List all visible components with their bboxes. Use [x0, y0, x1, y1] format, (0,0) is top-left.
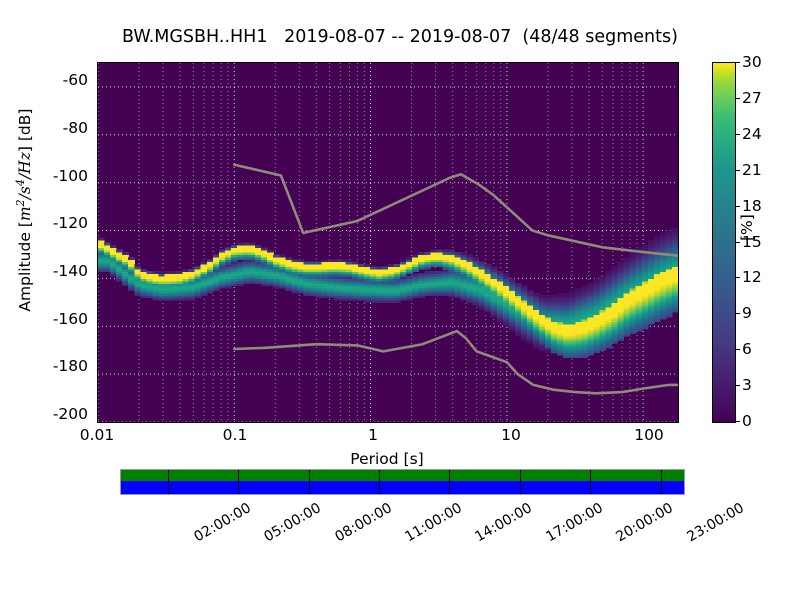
- colorbar-tick-label: 30: [742, 53, 762, 71]
- time-tick-label: 20:00:00: [614, 500, 676, 545]
- coverage-tick: [449, 470, 450, 494]
- coverage-band-blue: [121, 481, 684, 494]
- ylabel-math-m-exp: 2: [14, 199, 27, 206]
- xtick-label-3: 1: [368, 426, 378, 444]
- colorbar-tick-label: 21: [742, 161, 762, 179]
- xtick-label-4: 10: [501, 426, 521, 444]
- coverage-tick: [520, 470, 521, 494]
- colorbar-tick-label: 6: [742, 340, 752, 358]
- coverage-tick: [379, 470, 380, 494]
- time-tick-label: 23:00:00: [684, 500, 746, 545]
- ylabel-math-s-exp: 4: [14, 179, 27, 186]
- ylabel-math-hz: /Hz: [16, 152, 34, 179]
- colorbar-tickmark: [735, 134, 740, 135]
- nhnm-curve: [234, 165, 678, 256]
- ytick-label-8: -200: [0, 405, 88, 423]
- x-axis-label: Period [s]: [97, 450, 677, 468]
- ppsd-figure: BW.MGSBH..HH1 2019-08-07 -- 2019-08-07 (…: [0, 0, 800, 600]
- time-tick-label: 08:00:00: [332, 500, 394, 545]
- coverage-tick: [309, 470, 310, 494]
- coverage-tick: [661, 470, 662, 494]
- colorbar-tick-label: 18: [742, 197, 762, 215]
- colorbar-tickmark: [735, 170, 740, 171]
- page-title: BW.MGSBH..HH1 2019-08-07 -- 2019-08-07 (…: [0, 27, 800, 47]
- colorbar-tick-label: 27: [742, 89, 762, 107]
- coverage-tick: [590, 470, 591, 494]
- colorbar-tickmark: [735, 62, 740, 63]
- colorbar-tick-label: 9: [742, 304, 752, 322]
- xtick-label-1: 0.01: [80, 426, 115, 444]
- coverage-tick: [168, 470, 169, 494]
- colorbar-tickmark: [735, 206, 740, 207]
- colorbar-tickmark: [735, 277, 740, 278]
- time-tick-label: 14:00:00: [473, 500, 535, 545]
- colorbar-label: [%]: [738, 214, 756, 241]
- time-tick-label: 02:00:00: [191, 500, 253, 545]
- histogram-cells: [98, 228, 678, 358]
- time-tick-label: 17:00:00: [543, 500, 605, 545]
- colorbar-tickmark: [735, 242, 740, 243]
- colorbar-tickmark: [735, 385, 740, 386]
- colorbar-tickmark: [735, 349, 740, 350]
- ylabel-math-s: /s: [16, 186, 34, 199]
- time-tick-label: 11:00:00: [402, 500, 464, 545]
- ppsd-histogram: [98, 63, 678, 422]
- colorbar-tickmark: [735, 421, 740, 422]
- colorbar[interactable]: [712, 62, 736, 423]
- y-axis-label: Amplitude [m2/s4/Hz] [dB]: [14, 45, 34, 375]
- colorbar-tick-label: 12: [742, 268, 762, 286]
- time-tick-label: 05:00:00: [262, 500, 324, 545]
- colorbar-tick-label: 3: [742, 376, 752, 394]
- ylabel-suffix: ] [dB]: [16, 109, 34, 153]
- coverage-band-green: [121, 470, 684, 481]
- colorbar-tick-label: 24: [742, 125, 762, 143]
- grid-lines: [98, 63, 678, 422]
- xtick-label-2: 0.1: [223, 426, 248, 444]
- ylabel-math-m: m: [16, 206, 34, 221]
- time-coverage-bar[interactable]: [120, 469, 685, 495]
- xtick-label-5: 100: [634, 426, 664, 444]
- colorbar-tickmark: [735, 98, 740, 99]
- ppsd-plot-area[interactable]: [97, 62, 679, 423]
- ylabel-prefix: Amplitude [: [16, 221, 34, 311]
- coverage-tick: [238, 470, 239, 494]
- colorbar-tickmark: [735, 313, 740, 314]
- colorbar-tick-label: 0: [742, 412, 752, 430]
